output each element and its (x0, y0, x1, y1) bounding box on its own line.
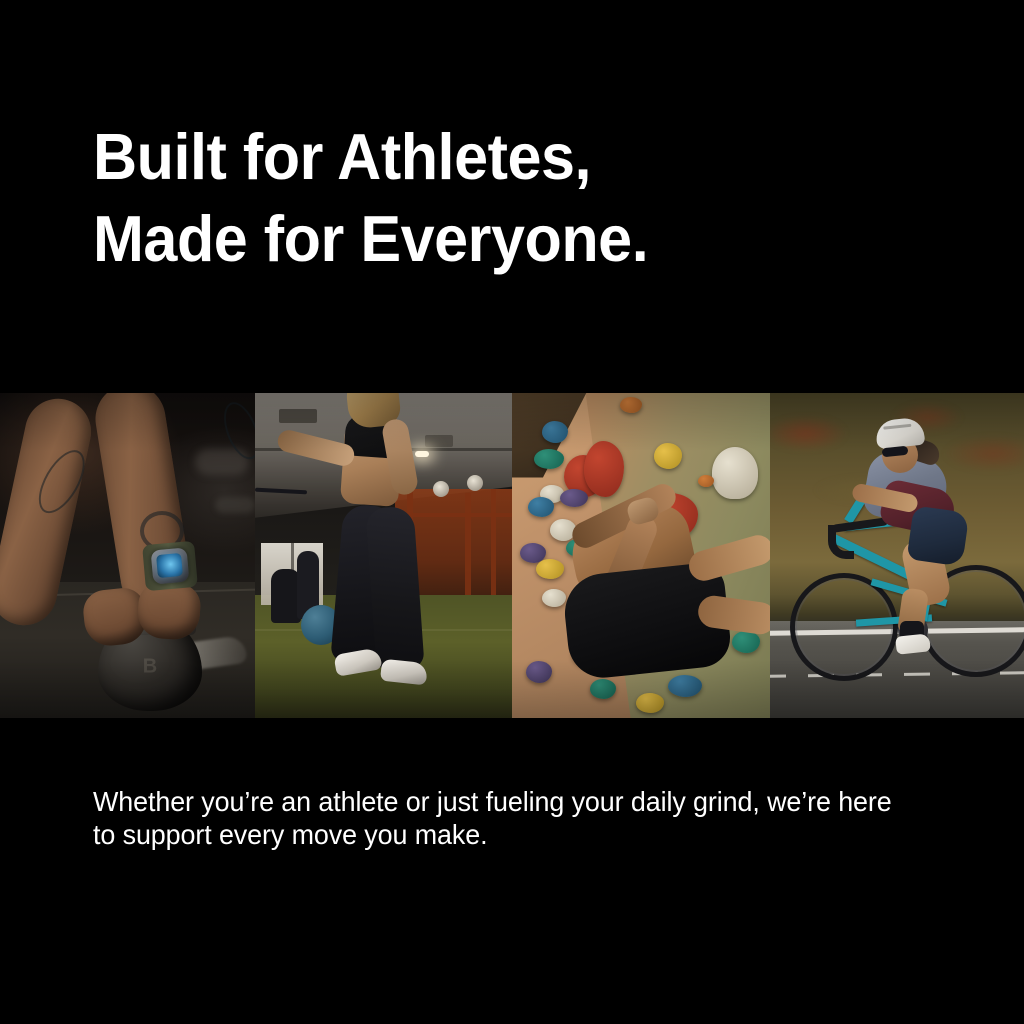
headline-line-1: Built for Athletes, (93, 116, 901, 198)
climbing-hold-purple-1 (560, 489, 588, 507)
climbing-hold-yellow-2 (536, 559, 564, 579)
strip-panel-climb (512, 393, 770, 718)
headline-block: Built for Athletes, Made for Everyone. (93, 116, 953, 280)
ceiling-light (415, 451, 429, 457)
rig-post-c (491, 489, 496, 599)
climbing-hold-yellow-1 (654, 443, 682, 469)
jumper-upper-body (343, 393, 409, 515)
body-paragraph: Whether you’re an athlete or just fuelin… (93, 786, 904, 851)
climber-leg-upper (686, 532, 770, 585)
jump-scene-art (255, 393, 512, 718)
ceiling-vent-icon (279, 409, 317, 423)
climbing-hold-orange-2 (698, 475, 714, 487)
jumper-legs (331, 505, 427, 677)
climbing-hold-cream-4 (542, 589, 566, 607)
climbing-hold-blue-3 (668, 675, 702, 697)
tattoo-mark (30, 443, 94, 521)
strip-panel-kettlebell (0, 393, 255, 718)
headline-line-2: Made for Everyone. (93, 198, 901, 280)
strip-panel-cycle (770, 393, 1024, 718)
body-copy-block: Whether you’re an athlete or just fuelin… (93, 786, 938, 851)
climbing-hold-blue-2 (528, 497, 554, 517)
climbing-hold-teal-5 (732, 631, 760, 653)
climbing-hold-red-2 (584, 441, 624, 497)
image-strip (0, 393, 1024, 718)
rig-post-b (465, 493, 471, 599)
climbing-hold-orange-1 (620, 397, 642, 413)
climbing-hold-yellow-4 (636, 693, 664, 713)
rider-bib-shorts (907, 505, 970, 566)
kettlebell-scene-art (0, 393, 255, 718)
rig-lamp-b (467, 475, 483, 491)
bike-rear-wheel (790, 573, 898, 681)
rig-lamp-a (433, 481, 449, 497)
background-equipment-blur-2 (215, 497, 255, 513)
legging-right (365, 506, 424, 671)
climbing-hold-blue-1 (542, 421, 568, 443)
ceiling-vent-icon-2 (425, 435, 453, 447)
cycle-scene-art (770, 393, 1024, 718)
promo-card: Built for Athletes, Made for Everyone. (0, 0, 1024, 1024)
smartwatch-screen (156, 553, 183, 578)
cycling-shoe (895, 633, 931, 654)
climbing-hold-cream-1 (712, 447, 758, 499)
climb-scene-art (512, 393, 770, 718)
strip-panel-jump (255, 393, 512, 718)
climbing-hold-purple-3 (526, 661, 552, 683)
climbing-hold-teal-4 (590, 679, 616, 699)
climbing-hold-teal-1 (534, 449, 564, 469)
